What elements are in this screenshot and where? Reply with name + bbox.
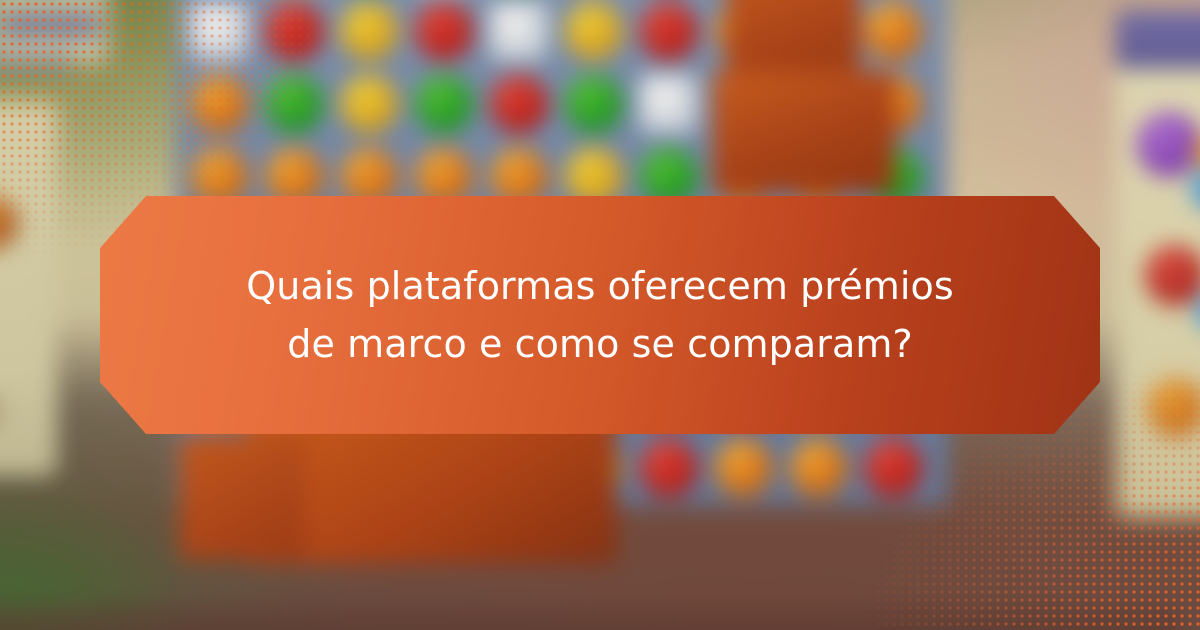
game-top-left-chip-bar bbox=[0, 12, 101, 37]
game-left-panel bbox=[0, 102, 57, 476]
game-tile-yellow bbox=[340, 2, 398, 60]
game-tile-red bbox=[490, 75, 548, 133]
game-tile-red bbox=[640, 439, 698, 497]
headline-banner: Quais plataformas oferecem prémios de ma… bbox=[100, 196, 1100, 434]
game-obstacle-block-b bbox=[712, 71, 895, 194]
game-tile-white bbox=[640, 75, 698, 133]
game-top-left-chip-bar-secondary bbox=[0, 54, 72, 73]
game-tile-white bbox=[490, 2, 548, 60]
game-tile-red bbox=[265, 2, 323, 60]
game-tile-green bbox=[265, 75, 323, 133]
game-tile-orange bbox=[190, 75, 248, 133]
game-tile-yellow bbox=[565, 2, 623, 60]
game-foreground-ledge bbox=[0, 605, 1182, 630]
social-card: Quais plataformas oferecem prémios de ma… bbox=[0, 0, 1200, 630]
game-tile-red bbox=[640, 2, 698, 60]
game-tile-yellow bbox=[340, 75, 398, 133]
game-tile-white bbox=[190, 2, 248, 60]
game-tile-red bbox=[415, 2, 473, 60]
game-badge-purple bbox=[1137, 112, 1200, 176]
game-tile-green bbox=[565, 75, 623, 133]
game-tile-orange bbox=[714, 439, 772, 497]
game-tile-red bbox=[864, 439, 922, 497]
game-tile-green bbox=[415, 75, 473, 133]
game-badge-red bbox=[1145, 245, 1200, 305]
game-obstacle-block-d bbox=[180, 435, 305, 560]
game-right-panel-header bbox=[1116, 10, 1200, 68]
game-tile-orange bbox=[864, 2, 922, 60]
game-badge-orange-secondary bbox=[1147, 378, 1200, 436]
game-tile-orange bbox=[789, 439, 847, 497]
page-title: Quais plataformas oferecem prémios de ma… bbox=[160, 257, 1040, 373]
